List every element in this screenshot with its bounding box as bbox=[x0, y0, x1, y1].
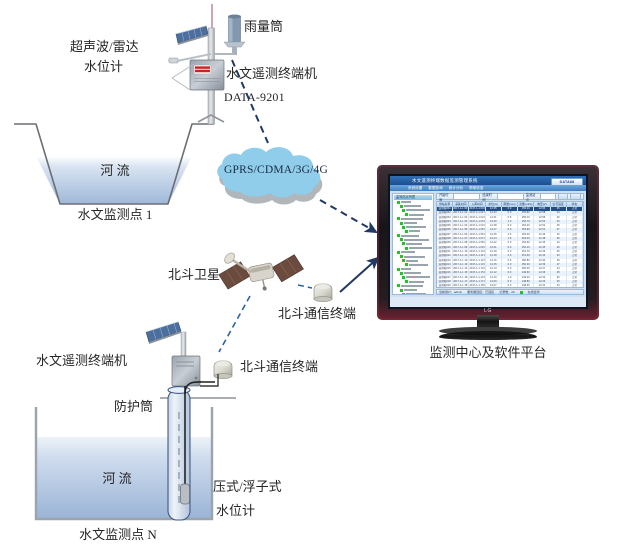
data-table-cell: 148.30 bbox=[518, 284, 534, 288]
menu-item-3[interactable]: 帮助信息 bbox=[469, 186, 483, 191]
status-user: 当前用户：admin bbox=[439, 290, 462, 294]
tree-node-marker bbox=[397, 217, 400, 220]
rtu-model-label: DATA-9201 bbox=[224, 88, 285, 106]
tree-node-marker bbox=[405, 263, 408, 266]
tree-node-label bbox=[401, 201, 411, 203]
menu-item-0[interactable]: 系统设置 bbox=[408, 186, 422, 191]
tree-node-label bbox=[404, 222, 417, 224]
pressure-float-label-line2: 水位计 bbox=[216, 502, 255, 520]
data-table-cell: 2017-1-1 18:05 bbox=[469, 284, 485, 288]
tree-node-marker bbox=[400, 222, 403, 225]
tree-node-marker bbox=[402, 209, 405, 212]
tree-node-label bbox=[401, 235, 419, 237]
rtu-bottom-label: 水文遥测终端机 bbox=[36, 352, 127, 370]
cloud-network-label: GPRS/CDMA/3G/4G bbox=[206, 164, 346, 176]
monitor-brand: LG bbox=[377, 308, 599, 314]
tree-node-marker bbox=[402, 242, 405, 245]
tree-node-label bbox=[404, 256, 425, 258]
tree-node-marker bbox=[397, 234, 400, 237]
export-button[interactable] bbox=[570, 193, 581, 200]
tree-node-marker bbox=[400, 238, 403, 241]
tree-node-marker bbox=[402, 259, 405, 262]
data-table-row[interactable]: 遥测站0192017-1-1 18:002017-1-1 18:0512.070… bbox=[437, 284, 583, 288]
status-bar: 当前用户：admin 服务器连接：已连接 记录数：20 在线监测 bbox=[436, 289, 584, 295]
network-cloud bbox=[206, 140, 346, 212]
tree-node-label bbox=[406, 243, 422, 245]
tree-node-label bbox=[406, 276, 430, 278]
rtu-top-label: 水文遥测终端机 bbox=[226, 65, 317, 83]
rtu-cabinet-icon bbox=[190, 60, 224, 90]
tree-node-label bbox=[406, 226, 426, 228]
data-table-cell: 12.07 bbox=[486, 284, 502, 288]
tree-node-marker bbox=[405, 247, 408, 250]
status-records: 记录数：20 bbox=[499, 290, 514, 294]
tree-node-label bbox=[409, 214, 424, 216]
filter-end-label: 结束时间 bbox=[482, 192, 494, 202]
tree-node-marker bbox=[397, 251, 400, 254]
station-tree-nodes[interactable] bbox=[394, 200, 432, 295]
tree-node-label bbox=[401, 285, 423, 287]
tree-node-label bbox=[404, 272, 421, 274]
tree-node-marker bbox=[397, 284, 400, 287]
data-table-body[interactable]: 遥测站0012017-1-1 00:002017-1-1 00:0512.350… bbox=[437, 207, 583, 288]
water-level-sensor-icon bbox=[181, 484, 190, 504]
data-table[interactable]: 测站名称采集时间入库时间水位(m)雨量(mm)流量(m3/s)电压(V)信号强度… bbox=[436, 201, 584, 288]
rain-gauge-label: 雨量筒 bbox=[244, 18, 283, 36]
data-table-cell: 遥测站019 bbox=[437, 284, 453, 288]
tree-node-label bbox=[409, 230, 420, 232]
data-table-cell: 24 bbox=[551, 284, 567, 288]
filter-start-label: 开始时间 bbox=[439, 192, 451, 202]
diagram-canvas: 河 流 水文监测点 1 bbox=[0, 0, 628, 556]
app-title: 水文遥测终端数据监测管理系统 bbox=[412, 178, 478, 184]
tree-node-marker bbox=[400, 255, 403, 258]
beidou-terminal-icon-right bbox=[308, 275, 338, 305]
tree-node-marker bbox=[397, 201, 400, 204]
tree-node-marker bbox=[402, 276, 405, 279]
data-table-cell: 正常 bbox=[567, 284, 583, 288]
tree-node-marker bbox=[405, 230, 408, 233]
tree-node-label bbox=[401, 268, 411, 270]
app-body: 监测站点列表 开始时间 结束时间 监测站点 测站名 bbox=[390, 191, 586, 297]
radar-level-sensor-icon bbox=[168, 58, 178, 63]
filter-start-input[interactable] bbox=[453, 193, 480, 200]
status-online-indicator bbox=[520, 291, 523, 294]
app-header: 水文遥测终端数据监测管理系统 DATA88 bbox=[390, 176, 586, 185]
tree-node-label bbox=[404, 289, 417, 291]
river-label-bottom: 河 流 bbox=[62, 470, 172, 488]
beidou-satellite-icon bbox=[218, 248, 304, 304]
app-main: 开始时间 结束时间 监测站点 测站名称采集时间入库时间水位(m)雨量(mm)流量… bbox=[436, 193, 584, 295]
beidou-terminal-bottom-label: 北斗通信终端 bbox=[240, 358, 318, 376]
query-filter-bar[interactable]: 开始时间 结束时间 监测站点 bbox=[436, 193, 584, 200]
tree-node-marker bbox=[397, 268, 400, 271]
link-terminal-to-center bbox=[340, 258, 378, 292]
tree-node-marker bbox=[400, 205, 403, 208]
solar-panel-icon bbox=[176, 26, 208, 45]
tree-node-label bbox=[409, 264, 428, 266]
tree-node-marker bbox=[405, 280, 408, 283]
tree-node-label bbox=[406, 293, 426, 295]
filter-station-select[interactable] bbox=[540, 193, 556, 200]
status-online: 在线监测 bbox=[528, 290, 540, 294]
beidou-satellite-label: 北斗卫星 bbox=[168, 266, 220, 284]
station-tree-node[interactable] bbox=[394, 292, 432, 295]
tree-node-marker bbox=[405, 213, 408, 216]
site-1-label: 水文监测点 1 bbox=[50, 206, 180, 224]
tree-node-label bbox=[401, 218, 423, 220]
tree-node-label bbox=[406, 209, 430, 211]
filter-end-input[interactable] bbox=[497, 193, 524, 200]
filter-station-label: 监测站点 bbox=[526, 192, 538, 202]
tree-node-marker bbox=[402, 293, 405, 295]
software-platform-screen[interactable]: 水文遥测终端数据监测管理系统 DATA88 系统设置 数据查询 统计分析 帮助信… bbox=[390, 176, 586, 307]
menu-item-2[interactable]: 统计分析 bbox=[449, 186, 463, 191]
app-logo: DATA88 bbox=[551, 178, 583, 186]
app-logo-text: DATA88 bbox=[552, 179, 582, 185]
tree-node-label bbox=[409, 281, 424, 283]
monitor-center-label: 监测中心及软件平台 bbox=[408, 344, 568, 362]
sensor-cable bbox=[163, 372, 223, 396]
monitor-display: 水文遥测终端数据监测管理系统 DATA88 系统设置 数据查询 统计分析 帮助信… bbox=[377, 165, 599, 340]
menu-item-1[interactable]: 数据查询 bbox=[428, 186, 442, 191]
data-table-cell: 0.0 bbox=[502, 284, 518, 288]
station-tree[interactable]: 监测站点列表 bbox=[392, 193, 434, 295]
query-button[interactable] bbox=[558, 193, 569, 200]
tree-node-label bbox=[406, 260, 418, 262]
tree-node-marker bbox=[402, 226, 405, 229]
tree-node-label bbox=[409, 247, 432, 249]
tree-node-label bbox=[404, 205, 421, 207]
status-server: 服务器连接：已连接 bbox=[467, 290, 494, 294]
beidou-terminal-right-label: 北斗通信终端 bbox=[278, 305, 356, 323]
data-table-cell: 12.31 bbox=[534, 284, 550, 288]
protective-tube bbox=[163, 384, 197, 526]
ultrasonic-radar-label-line2: 水位计 bbox=[84, 58, 123, 76]
ultrasonic-radar-label-line1: 超声波/雷达 bbox=[70, 38, 139, 56]
site-n-label: 水文监测点 N bbox=[48, 526, 188, 544]
solar-panel-icon-bottom bbox=[146, 322, 181, 344]
tree-node-label bbox=[401, 251, 415, 253]
data-table-cell: 2017-1-1 18:00 bbox=[453, 284, 469, 288]
tree-node-marker bbox=[400, 289, 403, 292]
rain-gauge-icon bbox=[214, 15, 245, 56]
tree-node-marker bbox=[400, 272, 403, 275]
tree-node-label bbox=[404, 239, 429, 241]
river-label-top: 河 流 bbox=[60, 162, 170, 180]
